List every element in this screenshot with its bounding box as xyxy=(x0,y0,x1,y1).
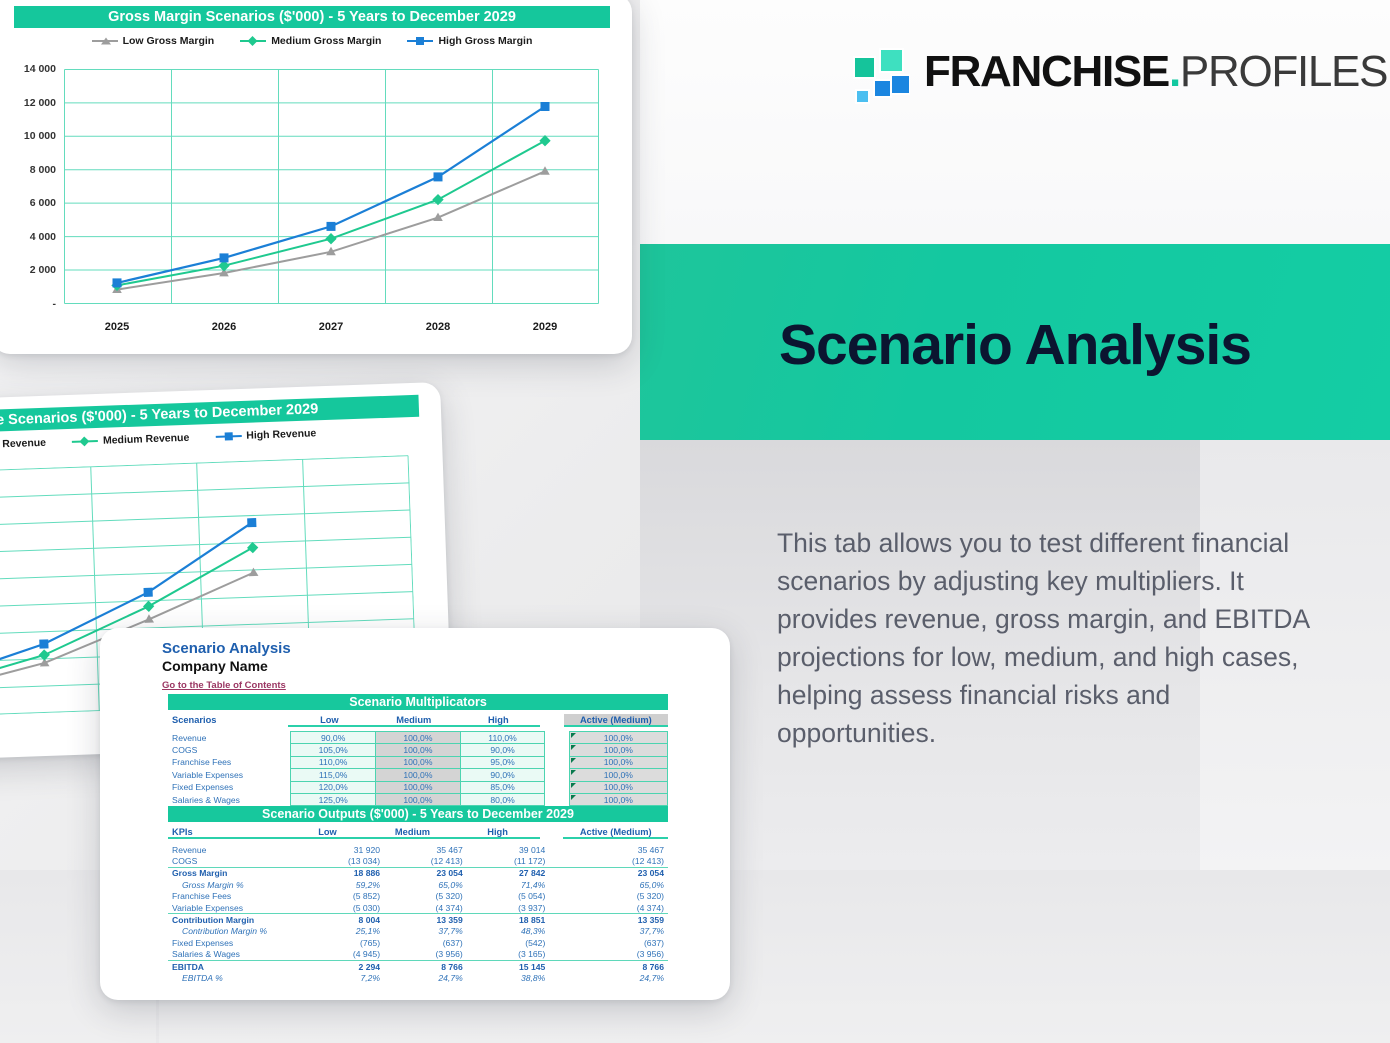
scenario-multiplicators-band: Scenario Multiplicators xyxy=(168,694,668,710)
legend-label-low: Low Gross Margin xyxy=(123,35,215,47)
page-title: Scenario Analysis xyxy=(779,312,1251,378)
multiplicators-col-medium: Medium xyxy=(371,714,457,726)
cell-high: 18 851 xyxy=(467,914,550,926)
cell-active: 37,7% xyxy=(572,926,668,937)
cell-high[interactable]: 95,0% xyxy=(460,756,545,768)
legend-line-medium xyxy=(240,40,266,42)
table-row: Revenue90,0%100,0%110,0%100,0% xyxy=(168,732,668,744)
cell-low[interactable]: 90,0% xyxy=(291,732,376,744)
cell-medium: (5 320) xyxy=(384,891,467,902)
table-card-header: Scenario Analysis Company Name Go to the… xyxy=(162,640,291,693)
cell-low: 18 886 xyxy=(301,867,384,879)
cell-high: 48,3% xyxy=(467,926,550,937)
legend-item-high-revenue: High Revenue xyxy=(215,427,316,443)
cell-medium: (637) xyxy=(384,937,467,948)
cell-high: (542) xyxy=(467,937,550,948)
gross-margin-legend: Low Gross Margin Medium Gross Margin Hig… xyxy=(14,32,610,50)
cell-low[interactable]: 120,0% xyxy=(291,781,376,793)
table-row: Gross Margin %59,2%65,0%71,4%65,0% xyxy=(168,879,668,890)
cell-high[interactable]: 110,0% xyxy=(460,732,545,744)
background-panel-top-right xyxy=(640,0,1390,245)
row-label: Gross Margin xyxy=(168,867,301,879)
legend-item-low-revenue: Low Revenue xyxy=(0,437,46,452)
cell-active: 35 467 xyxy=(572,844,668,855)
cell-low[interactable]: 115,0% xyxy=(291,769,376,781)
row-label: Salaries & Wages xyxy=(168,949,301,961)
square-marker-icon xyxy=(416,37,424,45)
row-label: Contribution Margin % xyxy=(168,926,301,937)
gross-margin-y-axis: - 2 000 4 000 6 000 8 000 10 000 12 000 … xyxy=(0,69,56,304)
cell-high: (3 937) xyxy=(467,902,550,914)
legend-label-high: High Gross Margin xyxy=(438,35,532,47)
cell-medium[interactable]: 100,0% xyxy=(376,732,461,744)
brand-dot: . xyxy=(1169,47,1180,96)
company-name: Company Name xyxy=(162,658,291,675)
triangle-marker-icon xyxy=(101,38,111,45)
cell-active[interactable]: 100,0% xyxy=(569,756,667,768)
cell-low[interactable]: 125,0% xyxy=(291,793,376,805)
table-row: Variable Expenses115,0%100,0%90,0%100,0% xyxy=(168,769,668,781)
table-row: Franchise Fees(5 852)(5 320)(5 054)(5 32… xyxy=(168,891,668,902)
outputs-row-header: KPIs xyxy=(168,826,286,838)
y-tick-1: 2 000 xyxy=(30,264,56,276)
outputs-col-low: Low xyxy=(286,826,370,838)
table-row: Contribution Margin8 00413 35918 85113 3… xyxy=(168,914,668,926)
row-label: Revenue xyxy=(168,732,291,744)
cell-low: (5 852) xyxy=(301,891,384,902)
gross-margin-plot-svg xyxy=(64,69,599,304)
cell-medium: 37,7% xyxy=(384,926,467,937)
table-row: EBITDA2 2948 76615 1458 766 xyxy=(168,960,668,972)
x-tick-2029: 2029 xyxy=(533,321,557,333)
cell-medium: 24,7% xyxy=(384,972,467,983)
cell-medium: 35 467 xyxy=(384,844,467,855)
y-tick-4: 8 000 xyxy=(30,164,56,176)
cell-high: 71,4% xyxy=(467,879,550,890)
table-row: Fixed Expenses(765)(637)(542)(637) xyxy=(168,937,668,948)
scenario-table-card: Scenario Analysis Company Name Go to the… xyxy=(100,628,730,1000)
cell-active: (5 320) xyxy=(572,891,668,902)
outputs-col-high: High xyxy=(455,826,539,838)
cell-high[interactable]: 90,0% xyxy=(460,769,545,781)
gross-margin-chart-title: Gross Margin Scenarios ($'000) - 5 Years… xyxy=(14,6,610,28)
legend-label-medium-revenue: Medium Revenue xyxy=(103,432,190,447)
cell-medium[interactable]: 100,0% xyxy=(376,744,461,756)
cell-active[interactable]: 100,0% xyxy=(569,744,667,756)
cell-low: (4 945) xyxy=(301,949,384,961)
row-label: Fixed Expenses xyxy=(168,937,301,948)
row-label: Franchise Fees xyxy=(168,756,291,768)
y-tick-7: 14 000 xyxy=(24,63,56,75)
cell-medium[interactable]: 100,0% xyxy=(376,769,461,781)
gross-margin-x-axis: 2025 2026 2027 2028 2029 xyxy=(64,321,599,337)
cell-high: (5 054) xyxy=(467,891,550,902)
cell-active: (637) xyxy=(572,937,668,948)
table-row: Franchise Fees110,0%100,0%95,0%100,0% xyxy=(168,756,668,768)
table-row: Contribution Margin %25,1%37,7%48,3%37,7… xyxy=(168,926,668,937)
cell-low[interactable]: 105,0% xyxy=(291,744,376,756)
legend-item-medium-revenue: Medium Revenue xyxy=(72,432,190,448)
cell-active: 65,0% xyxy=(572,879,668,890)
cell-active: (3 956) xyxy=(572,949,668,961)
cell-medium: (4 374) xyxy=(384,902,467,914)
diamond-marker-icon xyxy=(248,36,258,46)
table-row: COGS105,0%100,0%90,0%100,0% xyxy=(168,744,668,756)
gross-margin-chart-card: Gross Margin Scenarios ($'000) - 5 Years… xyxy=(0,0,632,354)
cell-medium: (12 413) xyxy=(384,855,467,867)
y-tick-2: 4 000 xyxy=(30,231,56,243)
outputs-header: KPIs Low Medium High Active (Medium) xyxy=(168,826,668,839)
cell-low[interactable]: 110,0% xyxy=(291,756,376,768)
cell-active: (12 413) xyxy=(572,855,668,867)
cell-active: 23 054 xyxy=(572,867,668,879)
cell-medium: 13 359 xyxy=(384,914,467,926)
y-tick-6: 12 000 xyxy=(24,97,56,109)
outputs-col-active: Active (Medium) xyxy=(563,826,668,838)
square-marker-icon xyxy=(224,432,232,440)
legend-line-high xyxy=(407,40,433,42)
x-tick-2027: 2027 xyxy=(319,321,343,333)
cell-low: 25,1% xyxy=(301,926,384,937)
x-tick-2028: 2028 xyxy=(426,321,450,333)
row-label: EBITDA % xyxy=(168,972,301,983)
multiplicators-row-header: Scenarios xyxy=(168,714,288,726)
cell-active: 8 766 xyxy=(572,960,668,972)
legend-item-medium: Medium Gross Margin xyxy=(240,35,381,47)
legend-line-high-revenue xyxy=(215,435,241,438)
multiplicators-col-active: Active (Medium) xyxy=(564,714,668,726)
brand-logo: FRANCHISE.PROFILES xyxy=(850,45,1350,115)
cell-low: 2 294 xyxy=(301,960,384,972)
brand-name-light: PROFILES xyxy=(1180,47,1387,96)
cell-medium[interactable]: 100,0% xyxy=(376,756,461,768)
table-row: Salaries & Wages(4 945)(3 956)(3 165)(3 … xyxy=(168,949,668,961)
table-row: Variable Expenses(5 030)(4 374)(3 937)(4… xyxy=(168,902,668,914)
logo-mark-icon xyxy=(850,48,910,106)
brand-name-bold: FRANCHISE xyxy=(924,47,1169,96)
row-label: Revenue xyxy=(168,844,301,855)
table-of-contents-link[interactable]: Go to the Table of Contents xyxy=(162,680,286,691)
row-label: Fixed Expenses xyxy=(168,781,291,793)
legend-line-low xyxy=(92,40,118,42)
cell-active: 24,7% xyxy=(572,972,668,983)
y-tick-0: - xyxy=(53,298,57,310)
scenario-outputs-band: Scenario Outputs ($'000) - 5 Years to De… xyxy=(168,806,668,822)
cell-active: 13 359 xyxy=(572,914,668,926)
cell-high[interactable]: 80,0% xyxy=(460,793,545,805)
row-label: Contribution Margin xyxy=(168,914,301,926)
y-tick-3: 6 000 xyxy=(30,197,56,209)
cell-high: (3 165) xyxy=(467,949,550,961)
cell-high: 27 842 xyxy=(467,867,550,879)
cell-high: 15 145 xyxy=(467,960,550,972)
y-tick-5: 10 000 xyxy=(24,130,56,142)
cell-low: 7,2% xyxy=(301,972,384,983)
outputs-table: Revenue31 92035 46739 01435 467COGS(13 0… xyxy=(168,844,668,984)
cell-high: 38,8% xyxy=(467,972,550,983)
cell-low: 31 920 xyxy=(301,844,384,855)
diamond-marker-icon xyxy=(80,436,90,446)
cell-medium: 8 766 xyxy=(384,960,467,972)
row-label: Salaries & Wages xyxy=(168,793,291,805)
table-row: Gross Margin18 88623 05427 84223 054 xyxy=(168,867,668,879)
cell-low: 8 004 xyxy=(301,914,384,926)
cell-active[interactable]: 100,0% xyxy=(569,732,667,744)
cell-low: (13 034) xyxy=(301,855,384,867)
legend-item-low: Low Gross Margin xyxy=(92,35,215,47)
cell-medium: 65,0% xyxy=(384,879,467,890)
x-tick-2026: 2026 xyxy=(212,321,236,333)
gross-margin-plot-area xyxy=(64,69,599,304)
row-label: Gross Margin % xyxy=(168,879,301,890)
legend-item-high: High Gross Margin xyxy=(407,35,532,47)
table-card-title: Scenario Analysis xyxy=(162,640,291,658)
cell-medium: 23 054 xyxy=(384,867,467,879)
table-row: EBITDA %7,2%24,7%38,8%24,7% xyxy=(168,972,668,983)
cell-low: 59,2% xyxy=(301,879,384,890)
legend-label-medium: Medium Gross Margin xyxy=(271,35,381,47)
cell-active[interactable]: 100,0% xyxy=(569,781,667,793)
row-label: Variable Expenses xyxy=(168,769,291,781)
table-row: Fixed Expenses120,0%100,0%85,0%100,0% xyxy=(168,781,668,793)
cell-active[interactable]: 100,0% xyxy=(569,769,667,781)
cell-active: (4 374) xyxy=(572,902,668,914)
table-row: Salaries & Wages125,0%100,0%80,0%100,0% xyxy=(168,793,668,805)
row-label: Franchise Fees xyxy=(168,891,301,902)
outputs-col-medium: Medium xyxy=(369,826,455,838)
x-tick-2025: 2025 xyxy=(105,321,129,333)
row-label: COGS xyxy=(168,744,291,756)
cell-medium[interactable]: 100,0% xyxy=(376,793,461,805)
cell-high[interactable]: 85,0% xyxy=(460,781,545,793)
cell-medium: (3 956) xyxy=(384,949,467,961)
page-description: This tab allows you to test different fi… xyxy=(777,524,1325,752)
brand-wordmark: FRANCHISE.PROFILES xyxy=(924,47,1387,97)
table-row: Revenue31 92035 46739 01435 467 xyxy=(168,844,668,855)
cell-medium[interactable]: 100,0% xyxy=(376,781,461,793)
row-label: EBITDA xyxy=(168,960,301,972)
multiplicators-table: Revenue90,0%100,0%110,0%100,0%COGS105,0%… xyxy=(168,731,668,806)
legend-line-medium-revenue xyxy=(72,440,98,443)
table-row: COGS(13 034)(12 413)(11 172)(12 413) xyxy=(168,855,668,867)
cell-low: (765) xyxy=(301,937,384,948)
cell-high: 39 014 xyxy=(467,844,550,855)
multiplicators-col-high: High xyxy=(457,714,541,726)
cell-low: (5 030) xyxy=(301,902,384,914)
legend-label-low-revenue: Low Revenue xyxy=(0,437,46,451)
cell-high[interactable]: 90,0% xyxy=(460,744,545,756)
multiplicators-col-low: Low xyxy=(288,714,371,726)
row-label: Variable Expenses xyxy=(168,902,301,914)
cell-active[interactable]: 100,0% xyxy=(569,793,667,805)
cell-high: (11 172) xyxy=(467,855,550,867)
legend-label-high-revenue: High Revenue xyxy=(246,427,316,441)
row-label: COGS xyxy=(168,855,301,867)
multiplicators-header: Scenarios Low Medium High Active (Medium… xyxy=(168,714,668,727)
